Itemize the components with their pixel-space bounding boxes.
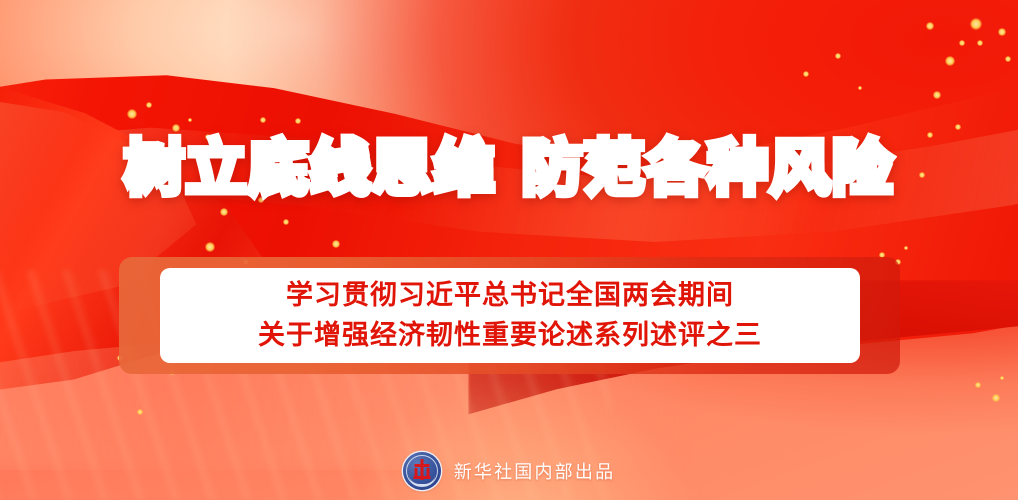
sparkle-dot xyxy=(1005,56,1011,62)
footer-attribution: 新华社国内部出品 xyxy=(0,442,1018,500)
sparkle-dot xyxy=(803,71,809,77)
xinhua-emblem-icon xyxy=(403,452,441,490)
subtitle-line-2: 关于增强经济韧性重要论述系列述评之三 xyxy=(258,316,762,356)
sparkle-dot xyxy=(998,28,1006,36)
sparkle-dot xyxy=(1000,376,1004,380)
sparkle-dot xyxy=(835,53,841,59)
headline-part-1: 树立底线思维 xyxy=(124,135,496,202)
headline-part-2: 防范各种风险 xyxy=(522,135,894,202)
sparkle-dot xyxy=(970,18,982,30)
subtitle-line-1: 学习贯彻习近平总书记全国两会期间 xyxy=(286,276,734,316)
sparkle-dot xyxy=(858,86,862,90)
sparkle-dot xyxy=(977,40,983,46)
sparkle-dot xyxy=(945,56,955,66)
sparkle-dot xyxy=(975,382,981,388)
subtitle-card: 学习贯彻习近平总书记全国两会期间 关于增强经济韧性重要论述系列述评之三 xyxy=(160,268,860,363)
footer-text: 新华社国内部出品 xyxy=(454,458,616,484)
headline-container: 树立底线思维防范各种风险 xyxy=(0,139,1018,199)
sparkle-dot xyxy=(926,22,934,30)
emblem-stroke-2 xyxy=(414,464,429,467)
sparkle-dot xyxy=(959,40,965,46)
poster-canvas: 树立底线思维防范各种风险 学习贯彻习近平总书记全国两会期间 关于增强经济韧性重要… xyxy=(0,0,1018,500)
sparkle-dot xyxy=(992,394,1000,402)
sparkle-dot xyxy=(933,91,941,99)
subtitle-frame: 学习贯彻习近平总书记全国两会期间 关于增强经济韧性重要论述系列述评之三 xyxy=(119,257,900,374)
page-title: 树立底线思维防范各种风险 xyxy=(124,139,894,199)
